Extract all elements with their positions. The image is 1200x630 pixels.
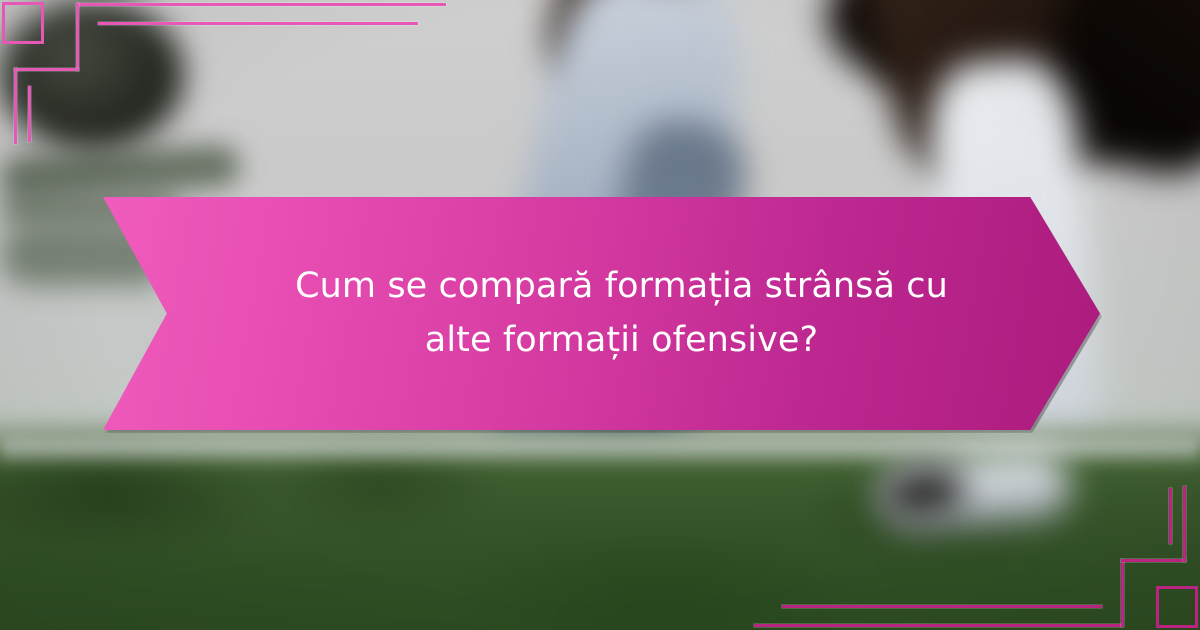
headline-text: Cum se compară formația strânsă cu alte … [257,260,987,366]
headline-banner: Cum se compară formația strânsă cu alte … [103,197,1100,430]
social-card: Cum se compară formația strânsă cu alte … [0,0,1200,630]
